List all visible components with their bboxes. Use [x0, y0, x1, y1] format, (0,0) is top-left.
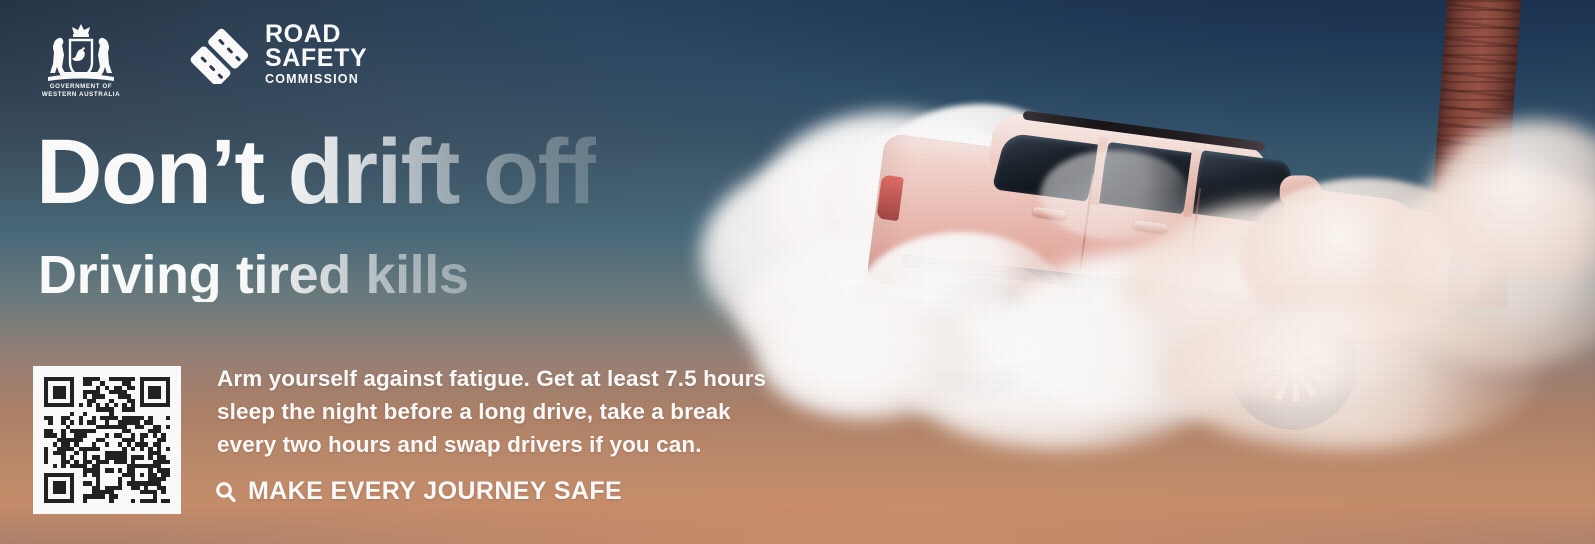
wheel-spokes	[944, 301, 1018, 375]
cloud-shape	[1120, 200, 1450, 400]
vehicle-rear-wheel	[914, 272, 1046, 404]
cta-label: MAKE EVERY JOURNEY SAFE	[248, 477, 622, 506]
vehicle-c-pillar	[1183, 149, 1201, 218]
vehicle-rear-window	[992, 132, 1102, 201]
cta-make-every-journey-safe[interactable]: MAKE EVERY JOURNEY SAFE	[215, 477, 622, 506]
road-safety-campaign-banner: GOVERNMENT OF WESTERN AUSTRALIA	[0, 0, 1595, 544]
cloud-shape	[760, 112, 1020, 292]
vehicle-rocker-panel	[927, 272, 1346, 349]
qr-code[interactable]	[33, 366, 181, 514]
cloud-shape	[880, 104, 1080, 234]
cloud-shape	[856, 232, 1066, 372]
vehicle-door-line	[1079, 174, 1094, 269]
cloud-shape	[1040, 150, 1190, 240]
road-safety-road-icon	[188, 24, 252, 84]
vehicle-door-handle	[1133, 220, 1168, 233]
headline: Don’t drift off	[36, 126, 596, 218]
cloud-shape	[1000, 250, 1290, 420]
vehicle-front-wheel	[1221, 294, 1365, 438]
rsc-line-road: ROAD	[265, 22, 367, 46]
vehicle-rear-fender	[911, 252, 1065, 342]
logo-group: GOVERNMENT OF WESTERN AUSTRALIA	[40, 22, 367, 98]
vehicle-body	[866, 133, 1429, 353]
vehicle-mid-window	[1096, 142, 1197, 214]
vehicle-roof-rail	[1022, 111, 1265, 152]
vehicle-b-pillar	[1090, 137, 1108, 206]
vehicle-front-fender	[1218, 273, 1383, 369]
vehicle-side-mirror	[1280, 175, 1322, 203]
body-copy: Arm yourself against fatigue. Get at lea…	[217, 362, 837, 461]
search-icon	[215, 481, 236, 502]
vehicle-side-trim	[900, 254, 1366, 320]
vehicle-roof	[988, 111, 1273, 201]
wa-government-crest-icon: GOVERNMENT OF WESTERN AUSTRALIA	[40, 22, 122, 98]
wa-government-crest-label: GOVERNMENT OF WESTERN AUSTRALIA	[42, 83, 120, 99]
rsc-line-safety: SAFETY	[265, 46, 367, 70]
vehicle-taillight	[876, 175, 904, 221]
body-copy-line: every two hours and swap drivers if you …	[217, 428, 837, 461]
vehicle-door-handle	[1032, 207, 1067, 220]
road-safety-commission-logo: ROAD SAFETY COMMISSION	[188, 22, 367, 85]
cloud-shape	[700, 150, 1030, 360]
cloud-shape	[820, 126, 1050, 276]
wheel-hub	[967, 325, 993, 351]
vehicle-front-window	[1189, 150, 1293, 225]
suv-vehicle-illustration	[821, 65, 1475, 443]
wheel-spokes	[1252, 326, 1332, 406]
cloud-shape	[900, 300, 1230, 450]
vehicle-hood	[1265, 192, 1456, 311]
vehicle-door-line	[1187, 188, 1202, 283]
rsc-line-commission: COMMISSION	[265, 73, 367, 85]
body-copy-line: sleep the night before a long drive, tak…	[217, 395, 837, 428]
road-safety-commission-wordmark: ROAD SAFETY COMMISSION	[265, 22, 367, 85]
subheadline: Driving tired kills	[38, 248, 469, 302]
wheel-hub	[1278, 351, 1307, 380]
cloud-shape	[1160, 300, 1540, 450]
body-copy-line: Arm yourself against fatigue. Get at lea…	[217, 362, 837, 395]
qr-code-modules	[44, 377, 170, 503]
